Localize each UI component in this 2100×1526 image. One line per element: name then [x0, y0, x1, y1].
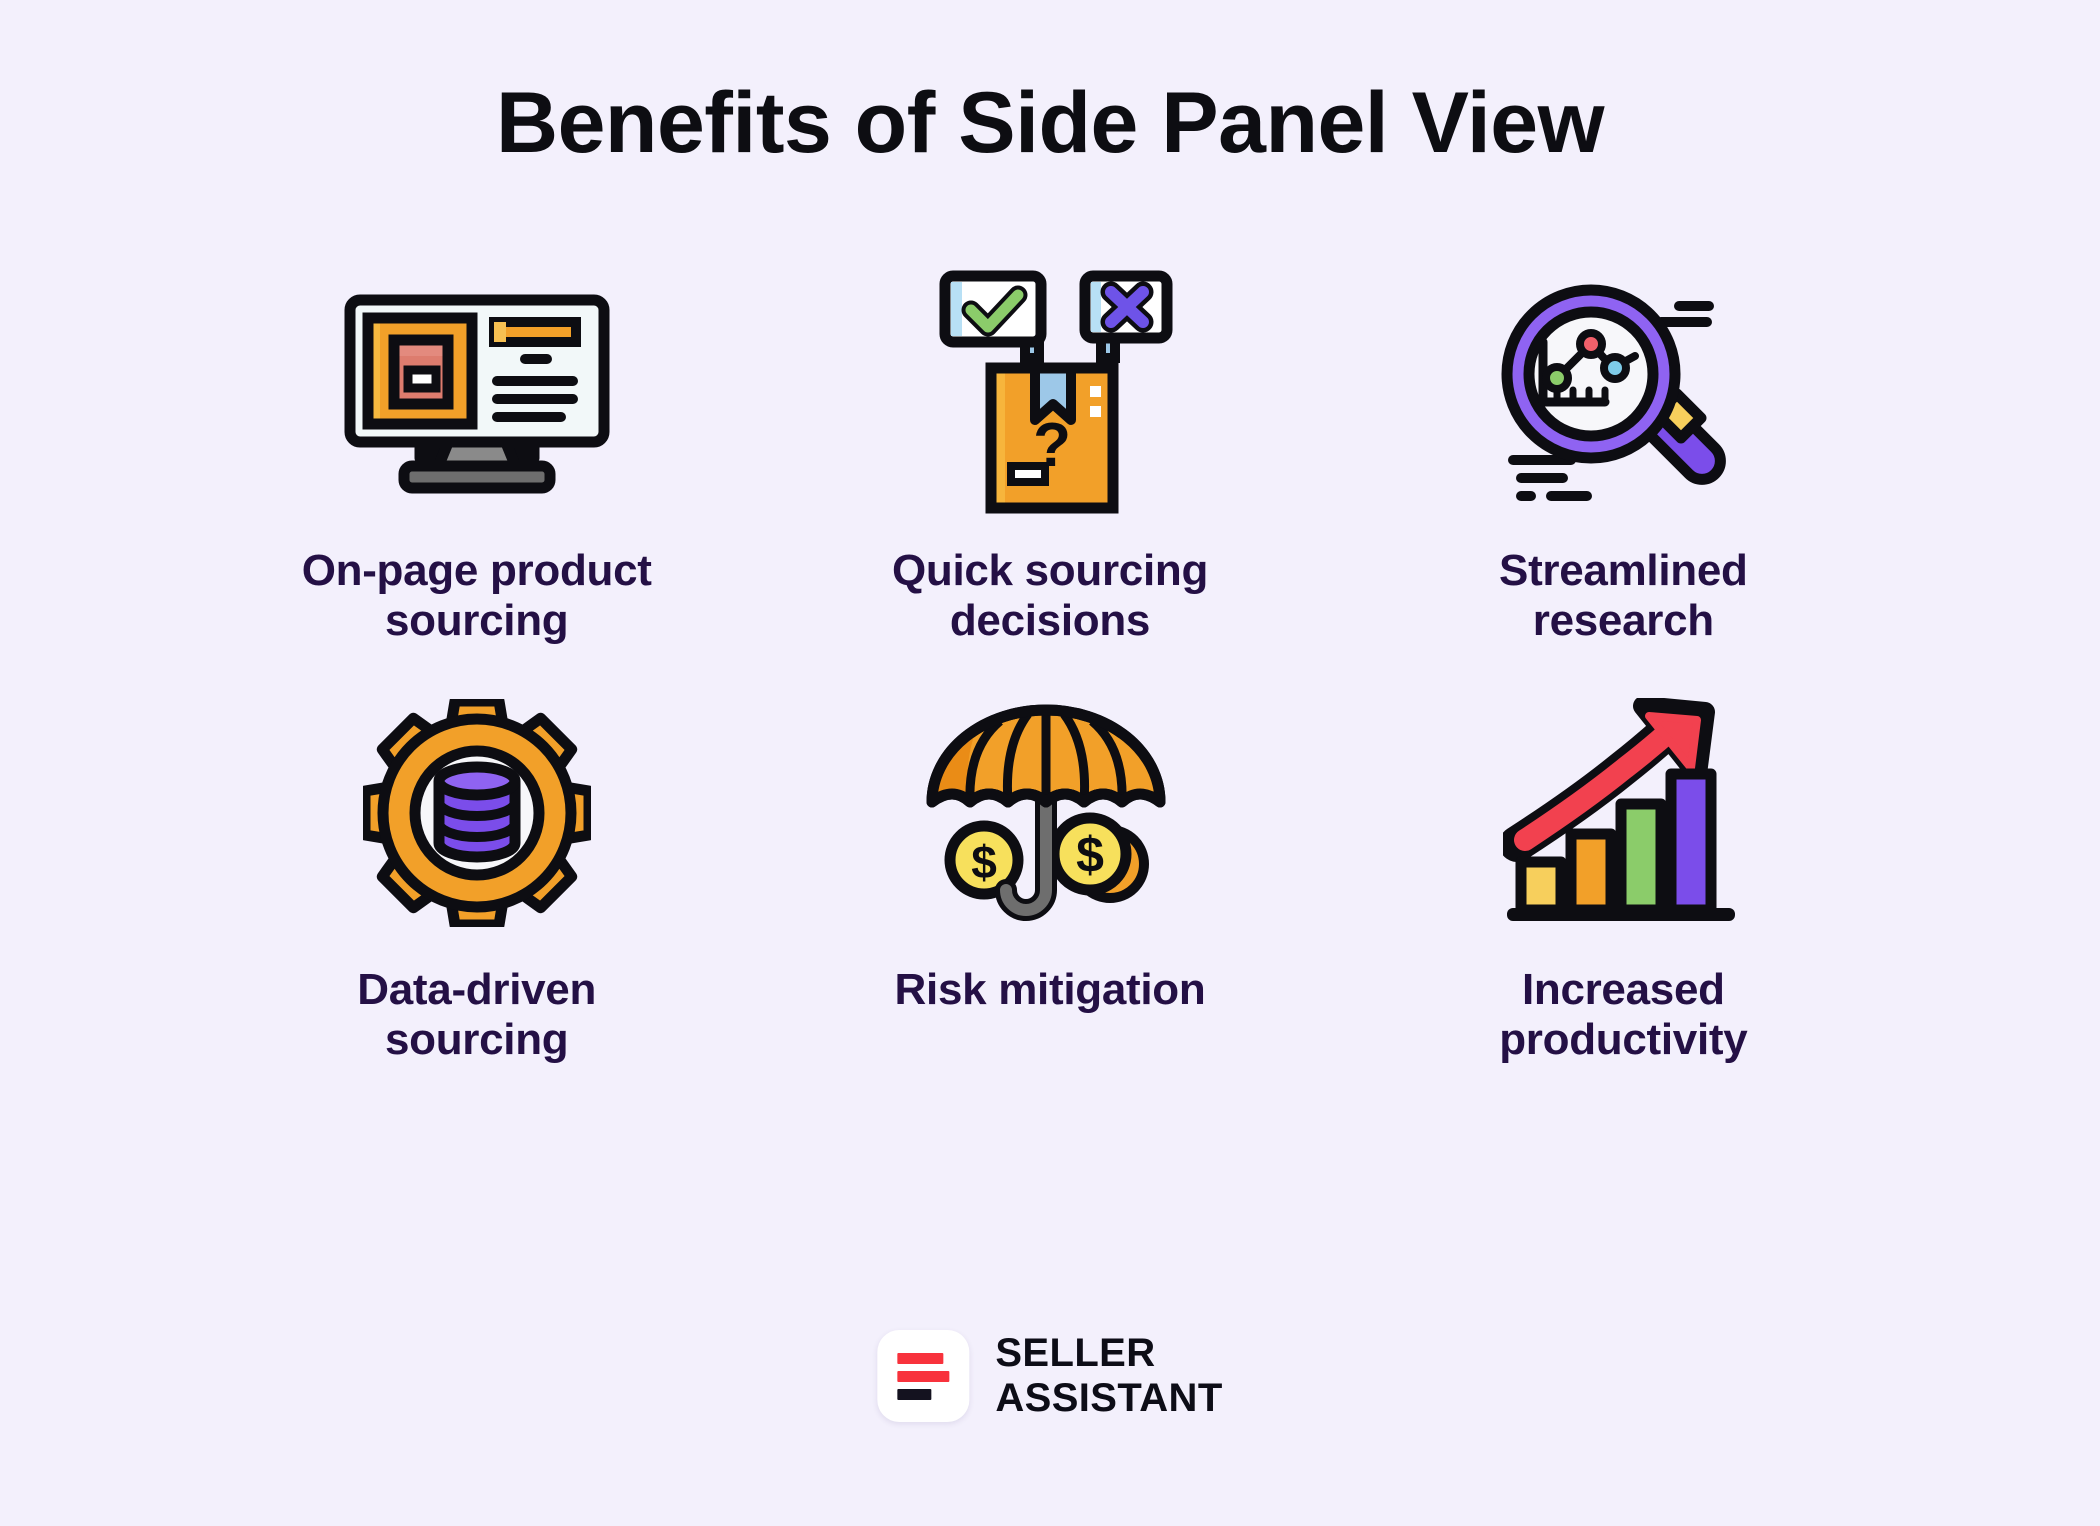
gear-database-icon — [363, 683, 591, 943]
caption-line-2: research — [1533, 596, 1714, 645]
caption-line-2: sourcing — [385, 1015, 568, 1064]
brand-name-line-1: SELLER — [995, 1331, 1155, 1375]
infographic-page: Benefits of Side Panel View — [0, 0, 2100, 1526]
svg-text:?: ? — [1033, 411, 1071, 480]
caption-line-1: On-page product — [302, 546, 652, 595]
benefit-card-data-driven-sourcing: Data-driven sourcing — [190, 683, 763, 1065]
benefit-caption: Data-driven sourcing — [357, 965, 596, 1065]
logo-bar-bottom — [897, 1389, 931, 1400]
package-decision-cards-icon: ? — [925, 264, 1175, 524]
benefits-grid: On-page product sourcing — [190, 264, 1910, 1065]
seller-assistant-logo-icon — [877, 1330, 969, 1422]
caption-line-2: decisions — [950, 596, 1150, 645]
page-title: Benefits of Side Panel View — [496, 78, 1604, 168]
logo-bar-top — [897, 1353, 943, 1364]
benefit-card-on-page-product-sourcing: On-page product sourcing — [190, 264, 763, 646]
benefit-card-streamlined-research: Streamlined research — [1337, 264, 1910, 646]
svg-text:$: $ — [1076, 827, 1104, 883]
benefit-caption: Quick sourcing decisions — [892, 546, 1208, 646]
caption-line-1: Data-driven — [357, 965, 596, 1014]
caption-line-1: Quick sourcing — [892, 546, 1208, 595]
brand-logo: SELLER ASSISTANT — [877, 1330, 1222, 1422]
benefit-card-risk-mitigation: $ $ — [763, 683, 1336, 1065]
benefit-card-quick-sourcing-decisions: ? Quick sourcing decisions — [763, 264, 1336, 646]
caption-line-2: productivity — [1499, 1015, 1747, 1064]
benefit-caption: Risk mitigation — [895, 965, 1206, 1015]
benefit-caption: Streamlined research — [1499, 546, 1748, 646]
logo-bar-middle — [897, 1371, 949, 1382]
benefit-caption: Increased productivity — [1499, 965, 1747, 1065]
svg-text:$: $ — [971, 836, 997, 888]
magnifier-chart-icon — [1495, 264, 1751, 524]
caption-line-1: Risk mitigation — [895, 965, 1206, 1014]
caption-line-1: Streamlined — [1499, 546, 1748, 595]
growth-bar-chart-icon — [1503, 683, 1743, 943]
benefit-caption: On-page product sourcing — [302, 546, 652, 646]
benefit-card-increased-productivity: Increased productivity — [1337, 683, 1910, 1065]
monitor-product-listing-icon — [342, 264, 612, 524]
caption-line-2: sourcing — [385, 596, 568, 645]
caption-line-1: Increased — [1522, 965, 1725, 1014]
umbrella-coins-icon: $ $ — [922, 683, 1178, 943]
brand-name: SELLER ASSISTANT — [995, 1331, 1222, 1421]
brand-name-line-2: ASSISTANT — [995, 1376, 1222, 1420]
